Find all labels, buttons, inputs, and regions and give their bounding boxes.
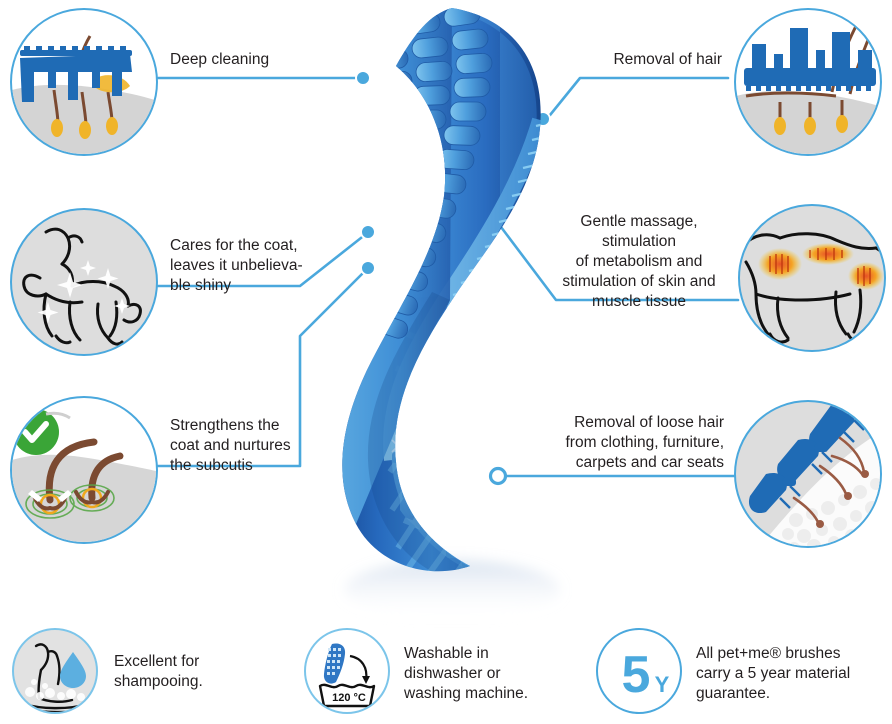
dot-deep-cleaning [356,71,370,85]
callout-label-removal-loose-hair: Removal of loose hair from clothing, fur… [534,413,724,473]
brush-teeth-in-skin-icon [10,8,158,156]
callout-label-gentle-massage: Gentle massage, stimulation of metabolis… [546,212,732,312]
dot-strengthens [361,261,375,275]
callout-label-deep-cleaning: Deep cleaning [170,50,370,70]
dishwasher-temperature-icon: 120 °C [304,628,390,714]
guarantee-years-unit: Y [655,672,670,697]
shiny-dog-outline-icon [10,208,158,356]
brush-on-fabric-icon [734,400,882,548]
dot-cares-for-coat [361,225,375,239]
dog-massage-heatmap-icon [738,204,886,352]
product-brush-illustration [321,0,560,620]
badge-label-washable: Washable in dishwasher or washing machin… [404,644,594,704]
dot-removal-loose-hair [491,469,506,484]
dog-water-drop-icon [12,628,98,714]
wash-temperature-label: 120 °C [332,692,366,704]
callout-label-strengthens: Strengthens the coat and nurtures the su… [170,416,350,476]
callout-label-removal-of-hair: Removal of hair [500,50,722,70]
five-year-guarantee-icon: 5 Y [596,628,682,714]
guarantee-years-value: 5 [622,646,651,704]
connector-removal-of-hair [546,78,728,120]
badge-label-shampooing: Excellent for shampooing. [114,652,284,692]
badge-label-guarantee: All pet+me® brushes carry a 5 year mater… [696,644,892,704]
infographic-canvas: Deep cleaning Cares for the coat, leaves… [0,0,892,724]
hair-follicle-check-icon [10,396,158,544]
callout-label-cares-for-coat: Cares for the coat, leaves it unbelieva-… [170,236,340,296]
brush-removing-hair-icon [734,8,882,156]
